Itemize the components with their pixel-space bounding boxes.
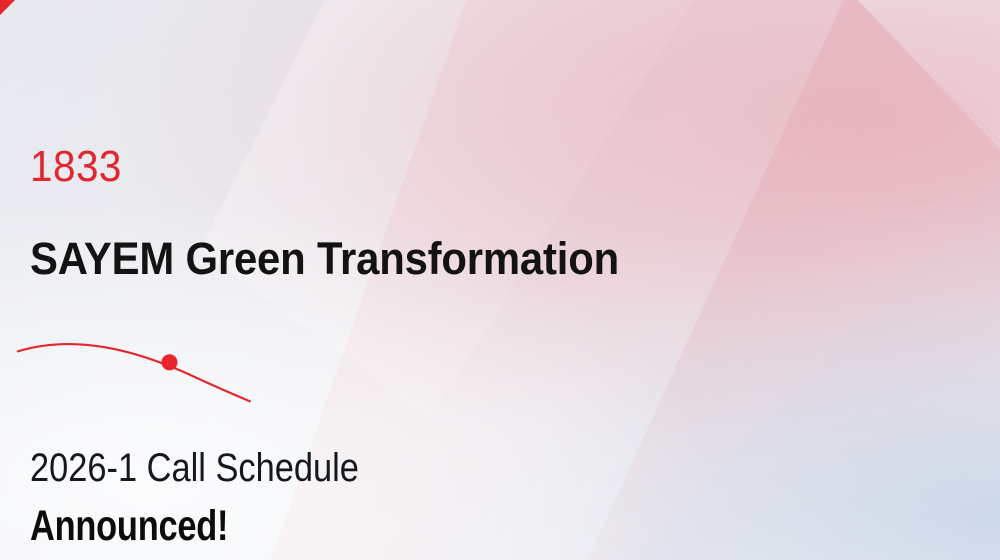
promo-banner: 1833 SAYEM Green Transformation 2026-1 C… bbox=[0, 0, 1000, 560]
page-title: SAYEM Green Transformation bbox=[30, 236, 619, 281]
subtitle-announced: Announced! bbox=[30, 505, 228, 548]
subtitle-schedule: 2026-1 Call Schedule bbox=[30, 448, 359, 488]
text-content: 1833 SAYEM Green Transformation 2026-1 C… bbox=[0, 0, 1000, 560]
eyebrow-number: 1833 bbox=[30, 145, 122, 189]
